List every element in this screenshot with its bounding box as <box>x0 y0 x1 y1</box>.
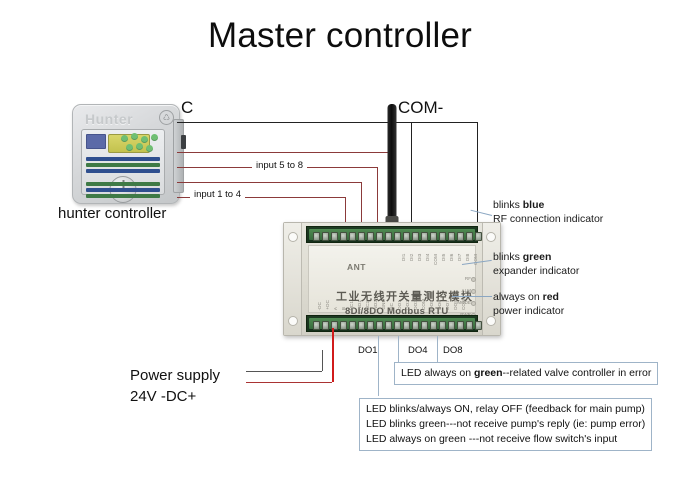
terminal-label: DI1 <box>401 254 409 265</box>
page-title: Master controller <box>0 16 680 56</box>
power-state-text: always on <box>493 291 543 303</box>
expander-color-text: green <box>523 251 552 263</box>
terminal-label: DI3 <box>417 254 425 265</box>
terminal-block-green <box>309 229 475 240</box>
wire-input-3 <box>177 182 361 183</box>
expander-state-text: blinks <box>493 251 523 263</box>
module-mount-ear-left <box>284 223 302 335</box>
terminal-label: -DC <box>317 302 325 310</box>
callout-valve-error: LED always on green--related valve contr… <box>394 362 658 385</box>
hunter-body: Hunter ♺ <box>72 104 180 204</box>
rf-state-text: blinks <box>493 199 523 211</box>
do-line-1 <box>398 336 399 362</box>
wire-input-1 <box>177 152 393 153</box>
terminal-label: COM <box>473 254 481 265</box>
module-housing: ANT 工业无线开关量测控模块 8DI/8DO Modbus RTU DI1 D… <box>283 222 501 336</box>
modbus-rtu-module: ANT 工业无线开关量测控模块 8DI/8DO Modbus RTU DI1 D… <box>283 222 501 336</box>
power-negative-wire <box>246 371 322 372</box>
terminal-label: DI5 <box>441 254 449 265</box>
terminal-label: NC1 <box>349 301 357 311</box>
do-line-2 <box>437 336 438 362</box>
do8-label: DO8 <box>443 345 463 356</box>
led-mode-icon <box>471 301 476 306</box>
ant-silkscreen-label: ANT <box>347 262 366 272</box>
hunter-stripe <box>86 169 160 173</box>
terminal-label: DO7 <box>445 300 453 310</box>
valve-callout-bold: green <box>474 367 503 379</box>
terminal-label: DO3 <box>413 300 421 310</box>
input-5-to-8-label: input 5 to 8 <box>252 160 307 171</box>
top-terminal-strip <box>306 226 478 243</box>
power-positive-drop <box>332 328 334 382</box>
terminal-label: GND <box>381 299 389 310</box>
led-alm-icon <box>471 289 476 294</box>
annotation-expander-desc: expander indicator <box>493 264 579 278</box>
diagram-canvas: Master controller Hunter ♺ <box>0 0 680 485</box>
terminal-label: DI4 <box>425 254 433 265</box>
pump-callout-line2: LED blinks green---not receive pump's re… <box>366 417 645 432</box>
hunter-stripe <box>86 157 160 161</box>
valve-callout-post: --related valve controller in error <box>503 367 652 379</box>
power-negative-drop <box>322 350 323 371</box>
wire-c-vertical <box>477 122 478 230</box>
led-rf-icon <box>471 277 476 282</box>
pump-callout-line3: LED always on green ---not receive flow … <box>366 432 645 447</box>
leader-line-power <box>452 296 492 297</box>
rf-color-text: blue <box>523 199 545 211</box>
terminal-label: DI2 <box>409 254 417 265</box>
mount-hole <box>288 232 298 242</box>
do4-label: DO4 <box>408 345 428 356</box>
hunter-controller-label: hunter controller <box>58 205 166 222</box>
terminal-label: NO2 <box>373 300 381 310</box>
annotation-expander-state: blinks green <box>493 250 551 264</box>
terminal-label: DO2 <box>405 300 413 310</box>
hunter-stripe <box>86 163 160 167</box>
module-faceplate: ANT 工业无线开关量测控模块 8DI/8DO Modbus RTU DI1 D… <box>308 245 476 313</box>
hunter-controller-device: Hunter ♺ <box>72 104 180 204</box>
power-supply-line1: Power supply <box>130 365 220 386</box>
do1-label: DO1 <box>358 345 378 356</box>
annotation-rf-state: blinks blue <box>493 198 544 212</box>
power-supply-label: Power supply 24V -DC+ <box>130 365 220 407</box>
annotation-rf-desc: RF connection indicator <box>493 212 603 226</box>
power-color-text: red <box>543 291 559 303</box>
power-positive-wire <box>246 382 332 383</box>
terminal-label: DO8 <box>453 300 461 310</box>
led-label-alm: ALM <box>462 288 471 293</box>
annotation-power-desc: power indicator <box>493 304 564 318</box>
input-1-to-4-label: input 1 to 4 <box>190 189 245 200</box>
hunter-stripe <box>86 194 160 198</box>
hunter-logo-icon: ♺ <box>159 110 174 125</box>
terminal-label: DO1 <box>397 300 405 310</box>
wire-input-2-drop <box>377 167 378 230</box>
antenna-rod <box>388 104 397 224</box>
terminal-label: DO5 <box>429 300 437 310</box>
hunter-front-panel <box>81 129 165 195</box>
wire-com-vertical <box>411 122 412 230</box>
leader-line-rf <box>471 210 493 216</box>
power-supply-line2: 24V -DC+ <box>130 386 220 407</box>
hunter-stripe <box>86 188 160 192</box>
hunter-aux-display <box>86 134 106 149</box>
terminal-label: B <box>341 307 349 310</box>
terminal-label: DI6 <box>449 254 457 265</box>
wire-com-horizontal <box>411 122 477 123</box>
terminal-label: COM <box>461 299 469 310</box>
mount-hole <box>288 316 298 326</box>
terminal-label: COM <box>421 299 429 310</box>
terminal-c-label: C <box>181 98 193 118</box>
terminal-label: NC2 <box>365 301 373 311</box>
terminal-label: NO1 <box>357 300 365 310</box>
hunter-brand-text: Hunter <box>85 111 169 126</box>
module-mount-ear-right <box>482 223 500 335</box>
hunter-stripe <box>86 182 160 186</box>
annotation-power-state: always on red <box>493 290 559 304</box>
hunter-button-pad <box>121 133 161 153</box>
mount-hole <box>486 232 496 242</box>
terminal-com-label: COM- <box>398 98 443 118</box>
pump-callout-line1: LED blinks/always ON, relay OFF (feedbac… <box>366 402 645 417</box>
terminal-label: +DC <box>325 300 333 310</box>
valve-callout-pre: LED always on <box>401 367 474 379</box>
do-line-3 <box>378 336 379 396</box>
terminal-label: NC <box>389 303 397 310</box>
terminal-label: DO6 <box>437 300 445 310</box>
terminal-label: A <box>333 307 341 310</box>
hunter-door-latch <box>181 135 186 149</box>
bottom-terminal-labels: -DC +DC A B NC1 NO1 NC2 NO2 GND NC DO1 D… <box>317 299 469 310</box>
callout-pump-status: LED blinks/always ON, relay OFF (feedbac… <box>359 398 652 451</box>
terminal-label: COM <box>433 254 441 265</box>
